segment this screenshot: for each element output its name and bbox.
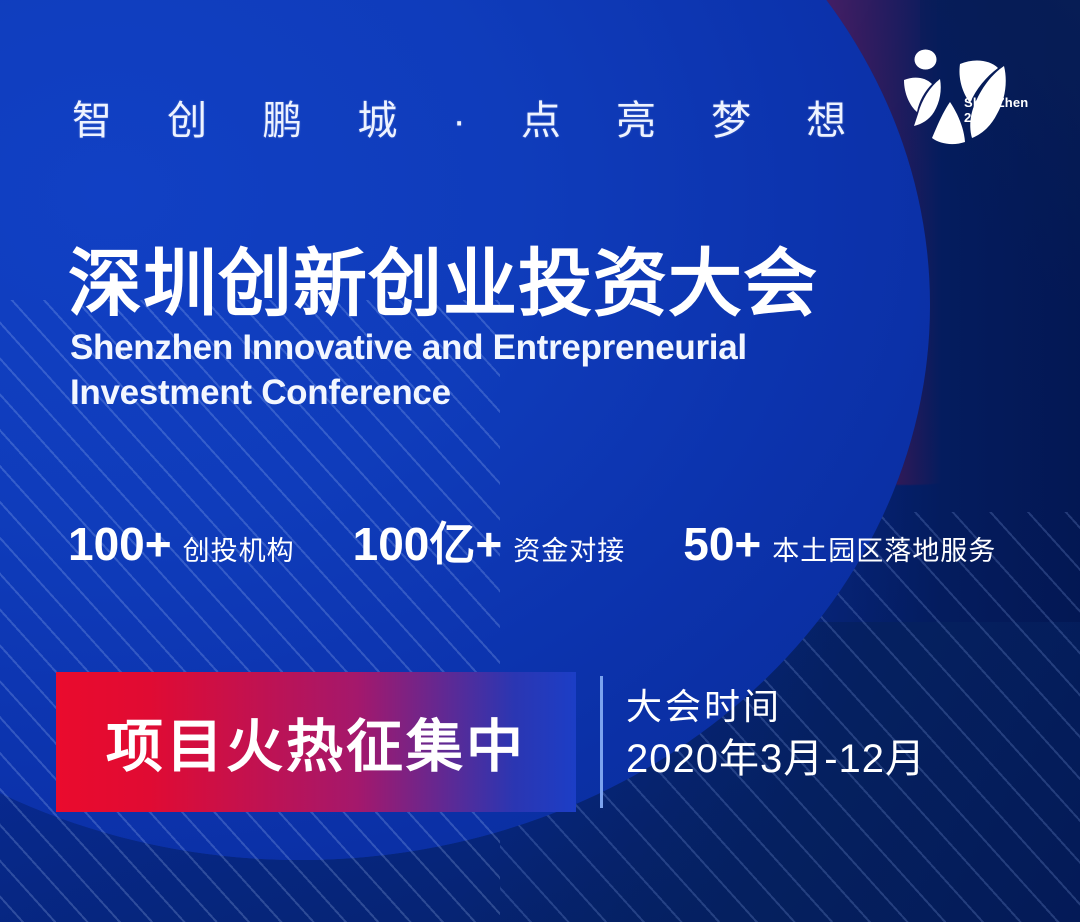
stat-label: 资金对接 <box>513 529 625 568</box>
logo-city-label: ShenZhen <box>964 96 1028 111</box>
page-title-english-line2: Investment Conference <box>70 371 860 416</box>
stat-number: 100亿+ <box>353 508 503 574</box>
event-date-value: 2020年3月-12月 <box>626 735 926 784</box>
page-title-chinese: 深圳创新创业投资大会 <box>68 224 818 331</box>
poster-content: 智 创 鹏 城 · 点 亮 梦 想 ShenZhen 2020 深圳创新创业投资… <box>0 0 1080 922</box>
vertical-divider <box>600 676 603 808</box>
cta-banner[interactable]: 项目火热征集中 <box>56 672 576 812</box>
stat-label: 本土园区落地服务 <box>772 529 996 568</box>
cta-banner-label: 项目火热征集中 <box>106 701 526 783</box>
event-date-block: 大会时间 2020年3月-12月 <box>626 686 926 784</box>
page-title-english-line1: Shenzhen Innovative and Entrepreneurial <box>70 326 860 371</box>
event-date-label: 大会时间 <box>626 686 926 727</box>
stat-number: 100+ <box>68 517 172 571</box>
event-poster: 智 创 鹏 城 · 点 亮 梦 想 ShenZhen 2020 深圳创新创业投资… <box>0 0 1080 922</box>
stat-number: 50+ <box>683 517 761 571</box>
shenzhen-2020-logo: ShenZhen 2020 <box>898 44 1026 162</box>
page-title-english: Shenzhen Innovative and Entrepreneurial … <box>70 326 860 416</box>
stat-item: 100+ 创投机构 <box>68 517 295 571</box>
logo-text-block: ShenZhen 2020 <box>964 96 1028 125</box>
stats-row: 100+ 创投机构 100亿+ 资金对接 50+ 本土园区落地服务 <box>68 508 996 574</box>
poster-tagline: 智 创 鹏 城 · 点 亮 梦 想 <box>72 88 868 146</box>
logo-year-label: 2020 <box>964 111 1028 126</box>
stat-item: 50+ 本土园区落地服务 <box>683 517 996 571</box>
stat-item: 100亿+ 资金对接 <box>353 508 626 574</box>
stat-label: 创投机构 <box>183 529 295 568</box>
